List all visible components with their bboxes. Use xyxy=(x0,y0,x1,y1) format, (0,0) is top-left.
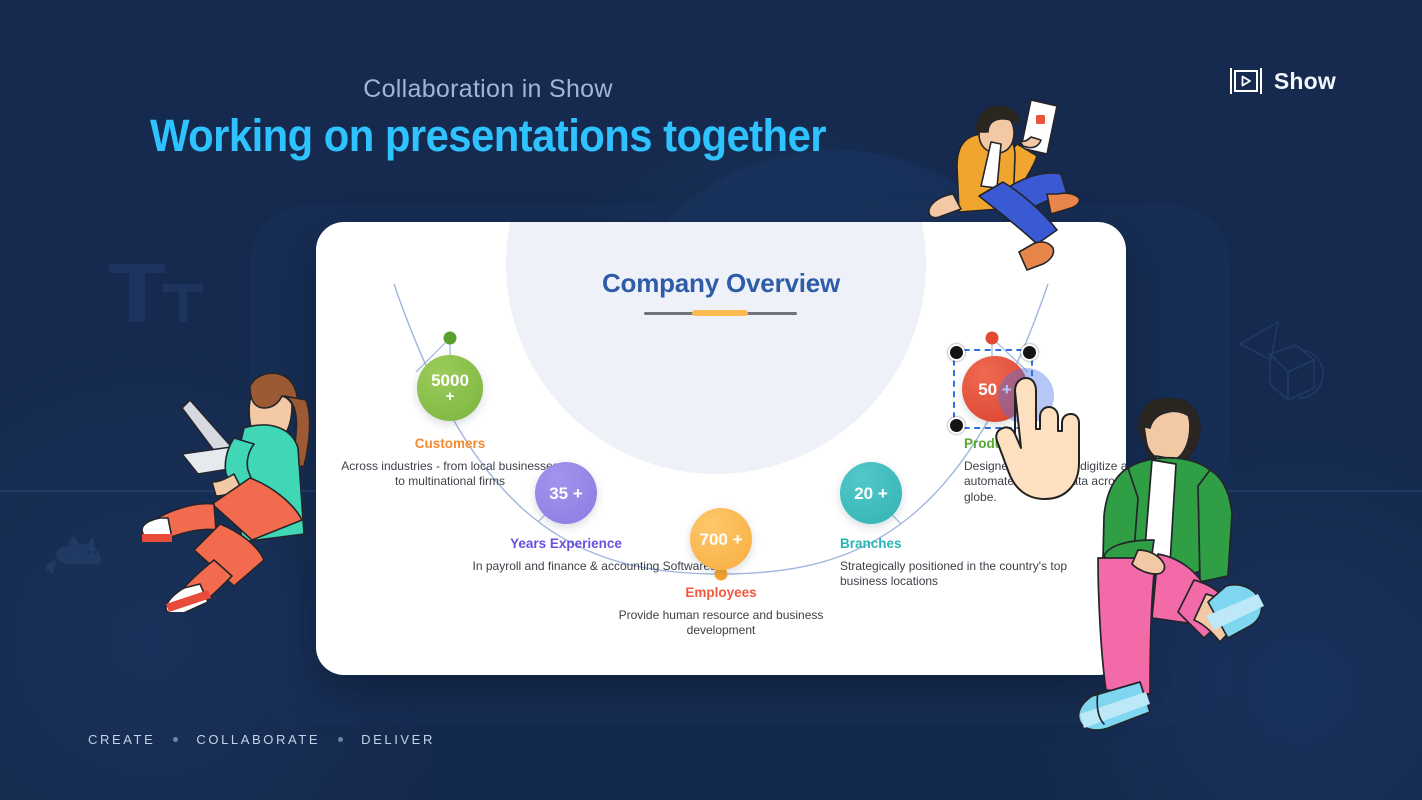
slide-editor-canvas: Collaboration in Show Working on present… xyxy=(0,0,1422,800)
resize-handle-top-left[interactable] xyxy=(948,344,965,361)
typography-tt-icon xyxy=(105,258,205,328)
stat-desc-years-experience[interactable]: In payroll and finance & accounting Soft… xyxy=(416,559,716,574)
header-title: Working on presentations together xyxy=(34,110,942,162)
stat-suffix-customers: + xyxy=(431,389,469,404)
stat-desc-employees[interactable]: Provide human resource and business deve… xyxy=(594,608,848,639)
play-frame-icon xyxy=(1229,66,1263,96)
stat-bubble-customers[interactable]: 5000 + xyxy=(417,355,483,421)
connector-dot-products xyxy=(986,332,999,345)
stat-bubble-branches[interactable]: 20 + xyxy=(840,462,902,524)
footer-tagline: CREATE COLLABORATE DELIVER xyxy=(88,732,435,747)
stat-label-years-experience[interactable]: Years Experience xyxy=(474,536,658,551)
pointing-hand-cursor xyxy=(985,375,1090,510)
cat-icon xyxy=(44,530,106,574)
connector-dot-customers xyxy=(444,332,457,345)
brand-name: Show xyxy=(1274,68,1336,95)
footer-item-deliver: DELIVER xyxy=(361,732,435,747)
footer-item-collaborate: COLLABORATE xyxy=(196,732,320,747)
footer-item-create: CREATE xyxy=(88,732,155,747)
resize-handle-top-right[interactable] xyxy=(1021,344,1038,361)
header-subtitle: Collaboration in Show xyxy=(0,76,976,104)
stat-label-employees[interactable]: Employees xyxy=(638,585,804,600)
stat-bubble-employees[interactable]: 700 + xyxy=(690,508,752,570)
illustration-person-with-phone xyxy=(905,72,1095,272)
stat-desc-branches[interactable]: Strategically positioned in the country'… xyxy=(840,559,1090,590)
stat-label-branches[interactable]: Branches xyxy=(840,536,1000,551)
illustration-person-with-laptop xyxy=(138,372,353,612)
slide-header: Collaboration in Show Working on present… xyxy=(0,76,976,161)
stat-label-customers[interactable]: Customers xyxy=(392,436,508,451)
resize-handle-bottom-left[interactable] xyxy=(948,417,965,434)
stat-desc-customers[interactable]: Across industries - from local businesse… xyxy=(338,459,562,490)
brand-logo[interactable]: Show xyxy=(1229,66,1336,96)
footer-separator-dot xyxy=(338,737,343,742)
illustration-person-pointing xyxy=(1078,398,1303,766)
stat-bubble-years-experience[interactable]: 35 + xyxy=(535,462,597,524)
footer-separator-dot xyxy=(173,737,178,742)
